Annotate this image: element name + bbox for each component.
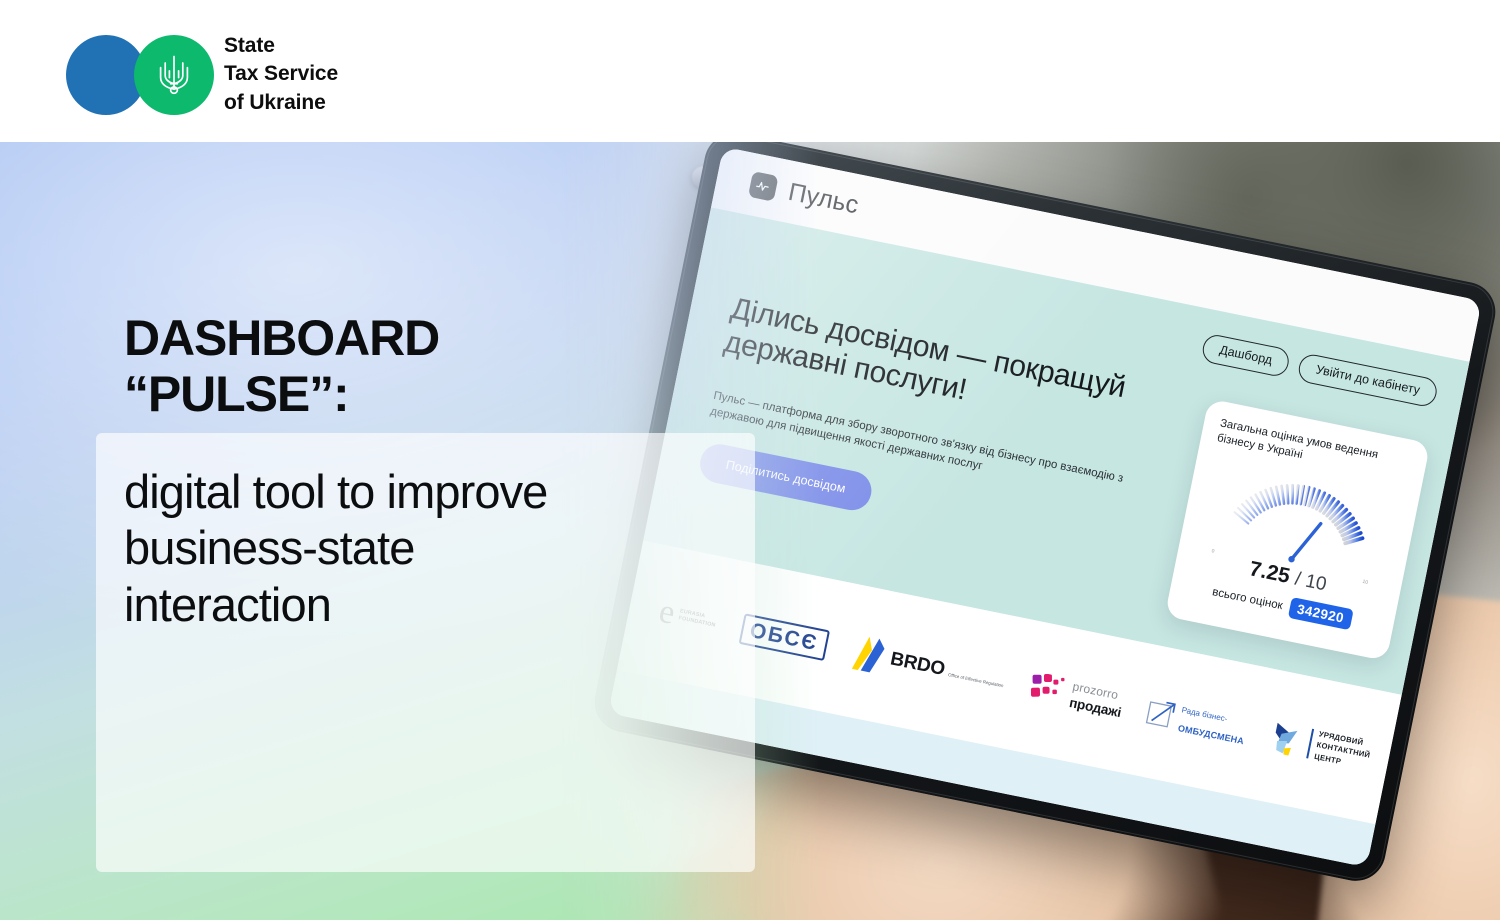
green-circle-trident-icon (134, 35, 214, 115)
brand-marks (66, 35, 216, 115)
partner-prozorro-logo: prozorro продажі (1026, 670, 1125, 722)
page-title: DASHBOARD “PULSE”: (124, 310, 764, 422)
pulse-glyph (754, 177, 773, 196)
brand-lockup: State Tax Service of Ukraine (66, 32, 338, 117)
org-name-line-1: State (224, 32, 338, 60)
nav-login-button[interactable]: Увійти до кабінету (1297, 352, 1440, 408)
org-name: State Tax Service of Ukraine (224, 32, 338, 117)
ombudsman-label: Рада бізнес- ОМБУДСМЕНА (1176, 698, 1249, 749)
ombudsman-arrow-icon (1145, 697, 1178, 730)
partner-brdo-logo: BRDO Office of Effective Regulation (848, 631, 1008, 701)
gauge-min-label: 0 (1211, 548, 1215, 554)
prozorro-dots-icon (1027, 671, 1069, 710)
prozorro-label: prozorro продажі (1068, 678, 1126, 722)
site-header: State Tax Service of Ukraine (0, 0, 1500, 142)
ukc-mark-icon (1268, 718, 1307, 760)
gauge-max-label: 10 (1362, 579, 1369, 586)
nav-dashboard-button[interactable]: Дашборд (1200, 333, 1291, 378)
gauge-total-label: всього оцінок (1211, 585, 1284, 612)
page-title-line-1: DASHBOARD (124, 310, 764, 366)
brdo-mark-icon (848, 631, 889, 677)
ukc-label: УРЯДОВИЙ КОНТАКТНИЙ ЦЕНТР (1313, 728, 1373, 772)
brdo-label: BRDO Office of Effective Regulation (889, 649, 1007, 691)
page-root: State Tax Service of Ukraine (0, 0, 1500, 920)
org-name-line-3: of Ukraine (224, 89, 338, 117)
overall-rating-card: Загальна оцінка умов ведення бізнесу в У… (1165, 399, 1431, 662)
gauge-needle (1288, 518, 1321, 566)
page-subtitle-line-1: digital tool to improve (124, 464, 824, 520)
page-title-line-2: “PULSE”: (124, 366, 764, 422)
page-subtitle: digital tool to improve business-state i… (124, 464, 824, 633)
partner-government-contact-center-logo: УРЯДОВИЙ КОНТАКТНИЙ ЦЕНТР (1268, 718, 1374, 773)
ukraine-trident-icon (157, 53, 191, 97)
page-subtitle-line-3: interaction (124, 577, 824, 633)
ukc-divider (1306, 729, 1314, 759)
org-name-line-2: Tax Service (224, 60, 338, 88)
gauge-ticks (1233, 473, 1371, 546)
partner-business-ombudsman-logo: Рада бізнес- ОМБУДСМЕНА (1144, 692, 1250, 750)
gauge-total-value: 342920 (1287, 597, 1353, 630)
pulse-chart-icon (748, 171, 779, 202)
app-title: Пульс (786, 177, 861, 220)
hero-stage: Пульс Дашборд Увійти до кабінету Ділись … (0, 142, 1500, 920)
page-subtitle-line-2: business-state (124, 520, 824, 576)
